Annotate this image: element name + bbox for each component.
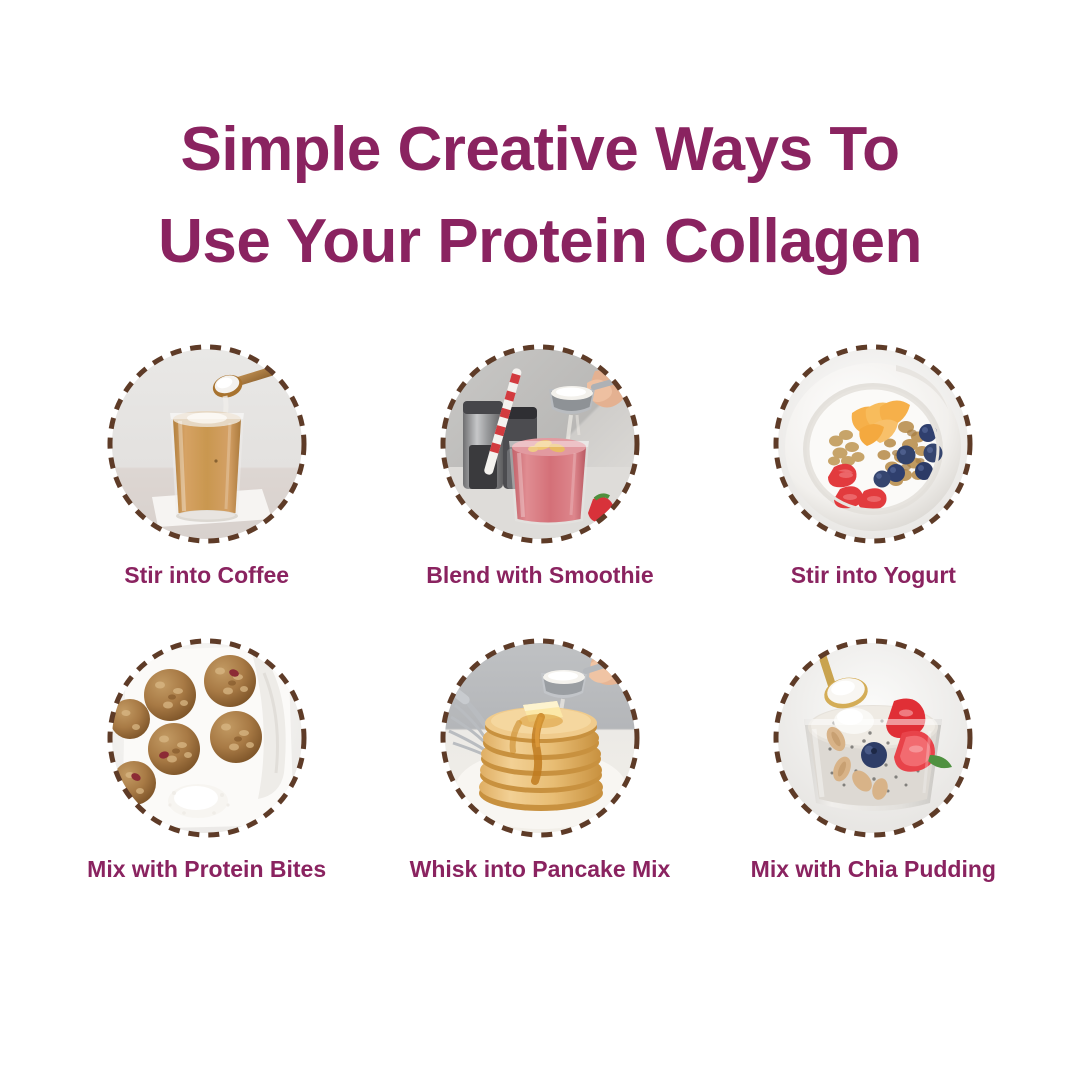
iced-coffee-glass-photo <box>112 349 302 539</box>
poster-canvas: Simple Creative Ways To Use Your Protein… <box>0 0 1080 1080</box>
idea-caption: Mix with Chia Pudding <box>751 854 996 884</box>
idea-caption: Stir into Yogurt <box>791 560 956 590</box>
circle-frame <box>440 344 640 544</box>
idea-card-blend-with-smoothie[interactable]: Blend with Smoothie <box>373 344 706 590</box>
yogurt-bowl-photo <box>778 349 968 539</box>
idea-card-stir-into-yogurt[interactable]: Stir into Yogurt <box>707 344 1040 590</box>
idea-card-mix-with-protein-bites[interactable]: Mix with Protein Bites <box>40 638 373 884</box>
berry-smoothie-photo <box>445 349 635 539</box>
title-line-1: Simple Creative Ways To <box>40 104 1040 196</box>
protein-bites-photo <box>112 643 302 833</box>
idea-card-whisk-into-pancake-mix[interactable]: Whisk into Pancake Mix <box>373 638 706 884</box>
idea-card-mix-with-chia-pudding[interactable]: Mix with Chia Pudding <box>707 638 1040 884</box>
idea-grid: Stir into Coffee <box>40 344 1040 884</box>
idea-card-stir-into-coffee[interactable]: Stir into Coffee <box>40 344 373 590</box>
circle-frame <box>440 638 640 838</box>
page-title: Simple Creative Ways To Use Your Protein… <box>40 104 1040 288</box>
circle-frame <box>107 638 307 838</box>
chia-pudding-photo <box>778 643 968 833</box>
idea-caption: Whisk into Pancake Mix <box>410 854 671 884</box>
circle-frame <box>773 344 973 544</box>
idea-caption: Blend with Smoothie <box>426 560 653 590</box>
idea-caption: Mix with Protein Bites <box>87 854 326 884</box>
idea-caption: Stir into Coffee <box>124 560 289 590</box>
pancake-stack-photo <box>445 643 635 833</box>
circle-frame <box>773 638 973 838</box>
title-line-2: Use Your Protein Collagen <box>40 196 1040 288</box>
circle-frame <box>107 344 307 544</box>
